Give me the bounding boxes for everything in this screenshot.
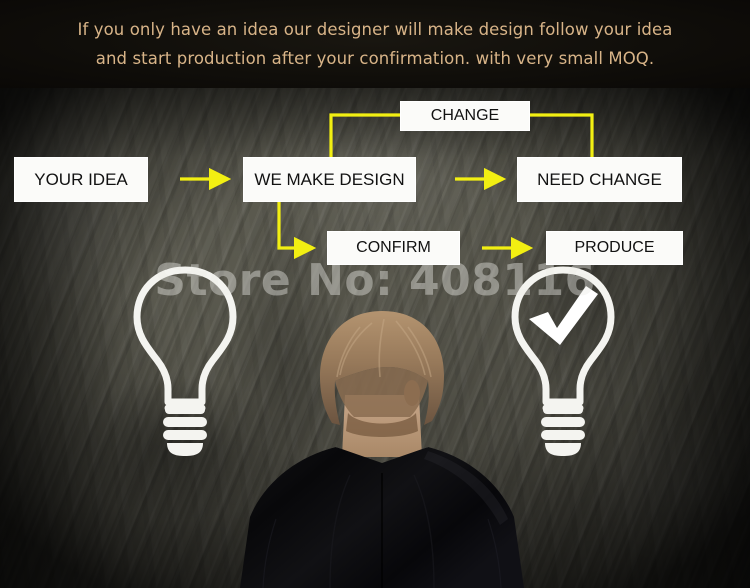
connector-change-to-design: [331, 115, 400, 157]
flow-box-your-idea[interactable]: YOUR IDEA: [14, 157, 148, 202]
flow-box-we-make-design[interactable]: WE MAKE DESIGN: [243, 157, 416, 202]
promo-banner: If you only have an idea our designer wi…: [0, 0, 750, 588]
flow-box-need-change[interactable]: NEED CHANGE: [517, 157, 682, 202]
flow-connectors: [0, 0, 750, 588]
flow-box-confirm[interactable]: CONFIRM: [327, 231, 460, 265]
flow-box-produce[interactable]: PRODUCE: [546, 231, 683, 265]
connector-design-to-confirm: [279, 202, 313, 248]
flow-box-change[interactable]: CHANGE: [400, 101, 530, 131]
connector-need-to-change: [530, 115, 592, 157]
